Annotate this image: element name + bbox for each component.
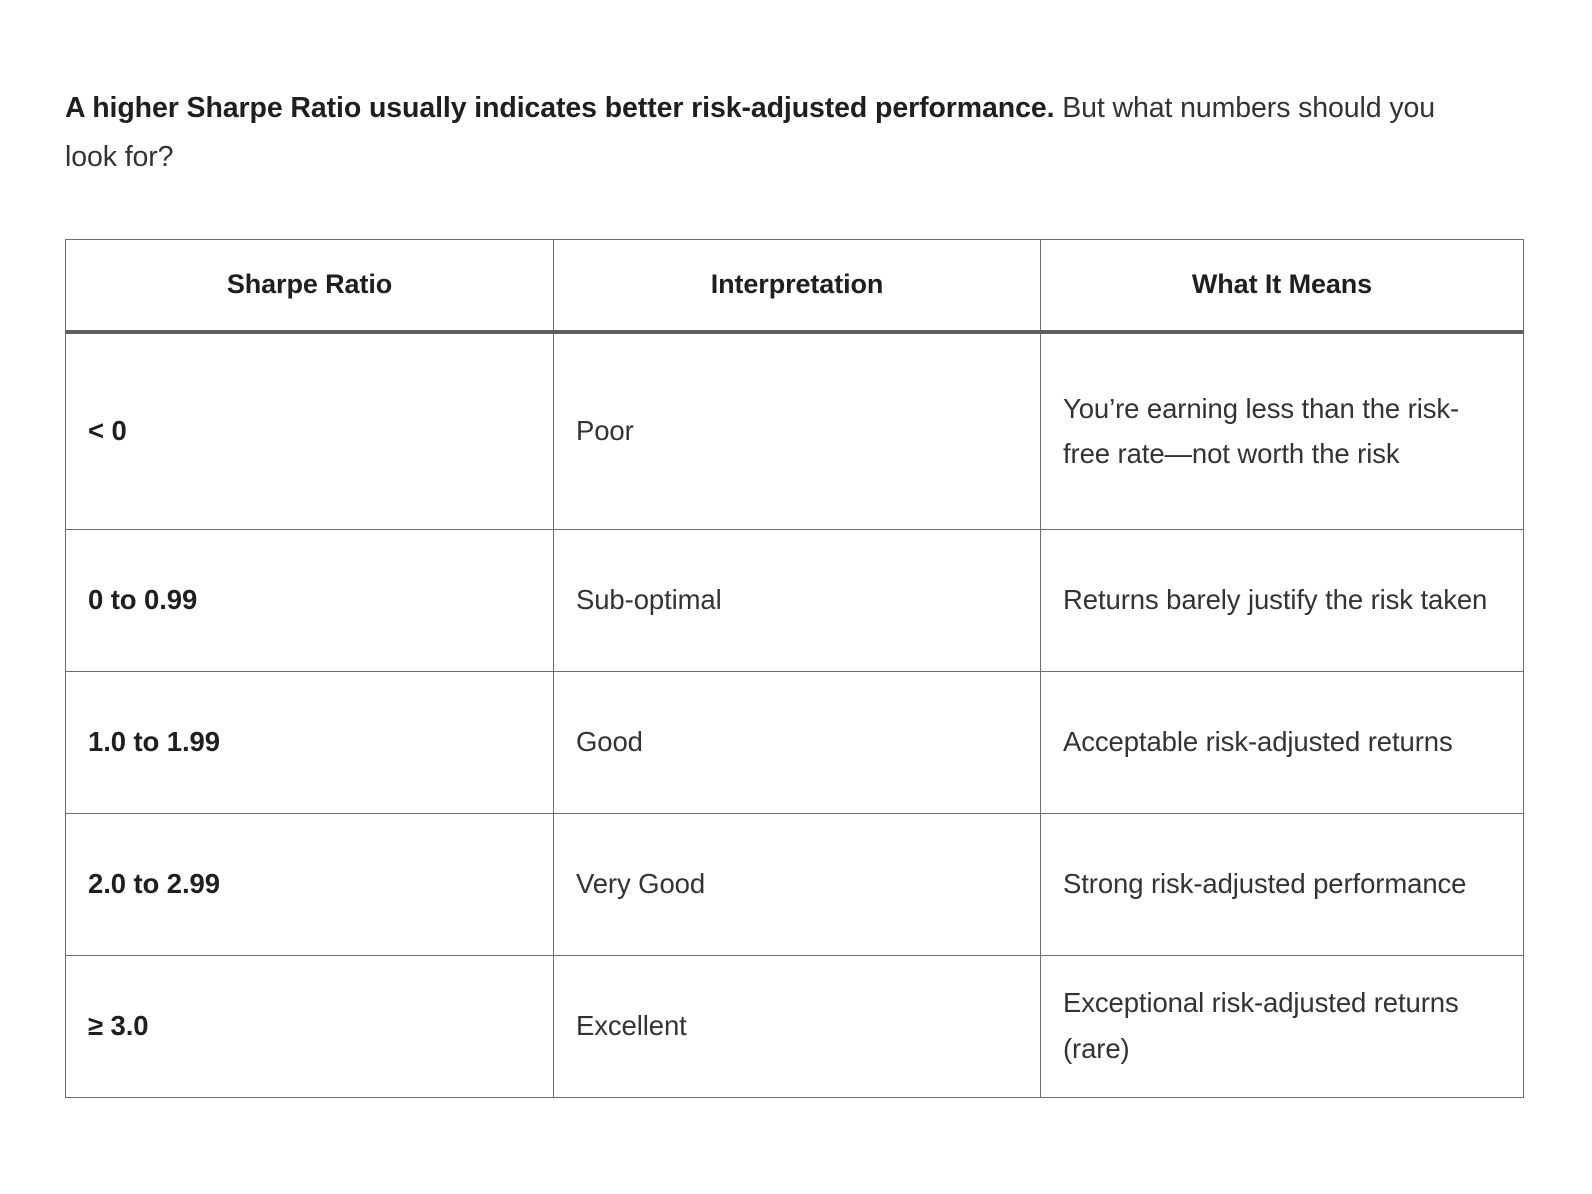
cell-interpretation: Sub-optimal [554, 529, 1041, 671]
sharpe-ratio-table: Sharpe Ratio Interpretation What It Mean… [65, 239, 1524, 1098]
table-row: 1.0 to 1.99 Good Acceptable risk-adjuste… [66, 671, 1524, 813]
table-body: < 0 Poor You’re earning less than the ri… [66, 332, 1524, 1097]
cell-sharpe-ratio: ≥ 3.0 [66, 955, 554, 1097]
cell-interpretation: Good [554, 671, 1041, 813]
cell-what-it-means: You’re earning less than the risk-free r… [1041, 332, 1524, 529]
cell-what-it-means: Exceptional risk-adjusted returns (rare) [1041, 955, 1524, 1097]
cell-sharpe-ratio: 1.0 to 1.99 [66, 671, 554, 813]
cell-sharpe-ratio: 2.0 to 2.99 [66, 813, 554, 955]
cell-interpretation: Very Good [554, 813, 1041, 955]
table-header: Sharpe Ratio Interpretation What It Mean… [66, 239, 1524, 332]
cell-interpretation: Poor [554, 332, 1041, 529]
column-header-interpretation: Interpretation [554, 239, 1041, 332]
table-row: 0 to 0.99 Sub-optimal Returns barely jus… [66, 529, 1524, 671]
column-header-what-it-means: What It Means [1041, 239, 1524, 332]
sharpe-ratio-table-container: Sharpe Ratio Interpretation What It Mean… [65, 239, 1527, 1098]
table-row: 2.0 to 2.99 Very Good Strong risk-adjust… [66, 813, 1524, 955]
table-header-row: Sharpe Ratio Interpretation What It Mean… [66, 239, 1524, 332]
intro-lead-text: A higher Sharpe Ratio usually indicates … [65, 92, 1054, 124]
table-row: < 0 Poor You’re earning less than the ri… [66, 332, 1524, 529]
page-root: A higher Sharpe Ratio usually indicates … [0, 29, 1592, 1194]
cell-sharpe-ratio: 0 to 0.99 [66, 529, 554, 671]
cell-what-it-means: Returns barely justify the risk taken [1041, 529, 1524, 671]
cell-what-it-means: Acceptable risk-adjusted returns [1041, 671, 1524, 813]
column-header-sharpe-ratio: Sharpe Ratio [66, 239, 554, 332]
cell-interpretation: Excellent [554, 955, 1041, 1097]
table-row: ≥ 3.0 Excellent Exceptional risk-adjuste… [66, 955, 1524, 1097]
intro-paragraph: A higher Sharpe Ratio usually indicates … [65, 29, 1450, 182]
cell-what-it-means: Strong risk-adjusted performance [1041, 813, 1524, 955]
cell-sharpe-ratio: < 0 [66, 332, 554, 529]
